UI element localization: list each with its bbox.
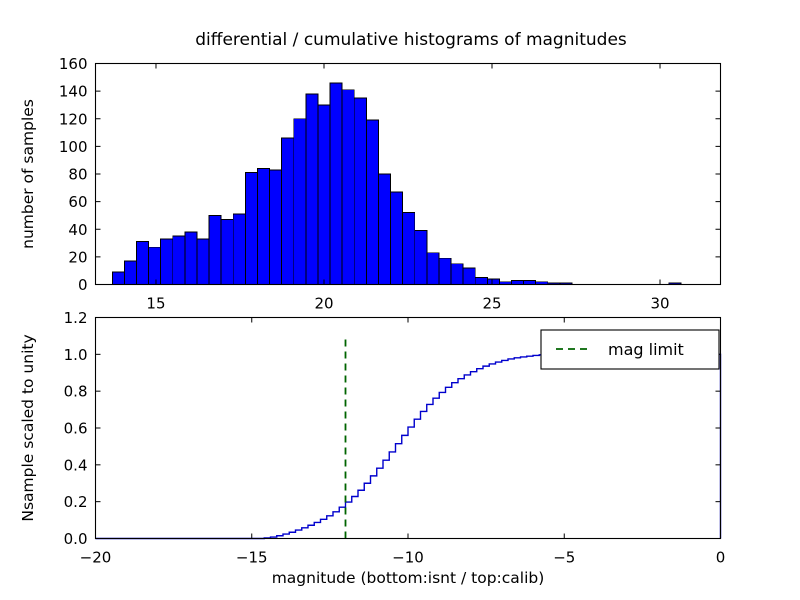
histogram-bar bbox=[475, 278, 487, 285]
histogram-bar bbox=[463, 268, 475, 285]
top-y-tick-label: 140 bbox=[59, 83, 88, 101]
histogram-bar bbox=[209, 215, 221, 284]
histogram-bar bbox=[330, 83, 342, 285]
histogram-bar bbox=[185, 232, 197, 284]
histogram-bar bbox=[306, 94, 318, 285]
histogram-bar bbox=[136, 242, 148, 285]
histogram-bar bbox=[149, 247, 161, 284]
histogram-bar bbox=[197, 239, 209, 285]
histogram-bar bbox=[427, 253, 439, 285]
figure-canvas: differential / cumulative histograms of … bbox=[0, 0, 800, 600]
top-y-tick-label: 100 bbox=[59, 138, 88, 156]
bottom-y-axis-label: Nsample scaled to unity bbox=[19, 334, 37, 521]
histogram-bar bbox=[257, 168, 269, 284]
top-subplot: differential / cumulative histograms of … bbox=[19, 30, 721, 313]
histogram-bar bbox=[112, 272, 124, 284]
top-x-tick-label: 25 bbox=[482, 295, 501, 313]
histogram-bar bbox=[161, 239, 173, 285]
histogram-bar bbox=[451, 264, 463, 285]
histogram-bar bbox=[439, 258, 451, 284]
legend-label-mag-limit: mag limit bbox=[608, 340, 684, 359]
histogram-bar bbox=[221, 220, 233, 285]
histogram-bar bbox=[366, 120, 378, 284]
top-y-tick-label: 40 bbox=[68, 221, 87, 239]
top-y-tick-label: 80 bbox=[68, 166, 87, 184]
histogram-bar bbox=[124, 261, 136, 284]
bottom-y-tick-label: 0.2 bbox=[64, 493, 88, 511]
bottom-x-tick-label: −10 bbox=[392, 549, 424, 567]
histogram-bar bbox=[378, 174, 390, 285]
bottom-y-tick-label: 0.4 bbox=[64, 456, 88, 474]
histogram-bar bbox=[524, 280, 536, 284]
histogram-bar bbox=[391, 192, 403, 285]
histogram-bar bbox=[354, 98, 366, 284]
histogram-bar bbox=[245, 173, 257, 285]
histogram-bar bbox=[282, 138, 294, 284]
bottom-x-tick-label: 0 bbox=[716, 549, 726, 567]
histogram-bar bbox=[270, 170, 282, 285]
histogram-bar bbox=[511, 280, 523, 284]
bottom-x-tick-label: −5 bbox=[553, 549, 575, 567]
histogram-bar bbox=[233, 214, 245, 284]
cumulative-curve bbox=[96, 354, 721, 538]
bottom-x-axis-label: magnitude (bottom:isnt / top:calib) bbox=[272, 569, 545, 587]
top-x-tick-label: 15 bbox=[146, 295, 165, 313]
top-y-tick-label: 0 bbox=[78, 276, 88, 294]
bottom-y-tick-label: 0.0 bbox=[64, 530, 88, 548]
histogram-bars bbox=[112, 83, 681, 285]
histogram-bar bbox=[173, 236, 185, 284]
page-title: differential / cumulative histograms of … bbox=[195, 30, 627, 50]
top-y-tick-label: 60 bbox=[68, 193, 87, 211]
top-y-tick-label: 120 bbox=[59, 110, 88, 128]
histogram-bar bbox=[415, 231, 427, 285]
histogram-bar bbox=[342, 90, 354, 285]
histogram-bar bbox=[487, 279, 499, 285]
histogram-bar bbox=[403, 213, 415, 285]
bottom-y-tick-label: 1.0 bbox=[64, 346, 88, 364]
bottom-y-tick-label: 1.2 bbox=[64, 309, 88, 327]
top-y-tick-label: 160 bbox=[59, 55, 88, 73]
bottom-y-tick-label: 0.8 bbox=[64, 383, 88, 401]
bottom-x-tick-label: −20 bbox=[80, 549, 112, 567]
top-y-tick-label: 20 bbox=[68, 248, 87, 266]
top-y-axis-label: number of samples bbox=[19, 99, 37, 249]
bottom-y-tick-label: 0.6 bbox=[64, 420, 88, 438]
bottom-x-tick-label: −15 bbox=[236, 549, 268, 567]
legend[interactable]: mag limit bbox=[541, 330, 719, 369]
top-x-tick-label: 30 bbox=[650, 295, 669, 313]
histogram-bar bbox=[318, 105, 330, 285]
histogram-bar bbox=[294, 119, 306, 285]
bottom-subplot: 0.00.20.40.60.81.01.2 −20−15−10−50 Nsamp… bbox=[19, 309, 725, 587]
plot-canvas: differential / cumulative histograms of … bbox=[0, 0, 800, 600]
top-x-tick-label: 20 bbox=[314, 295, 333, 313]
cumulative-curve-group bbox=[96, 354, 721, 538]
